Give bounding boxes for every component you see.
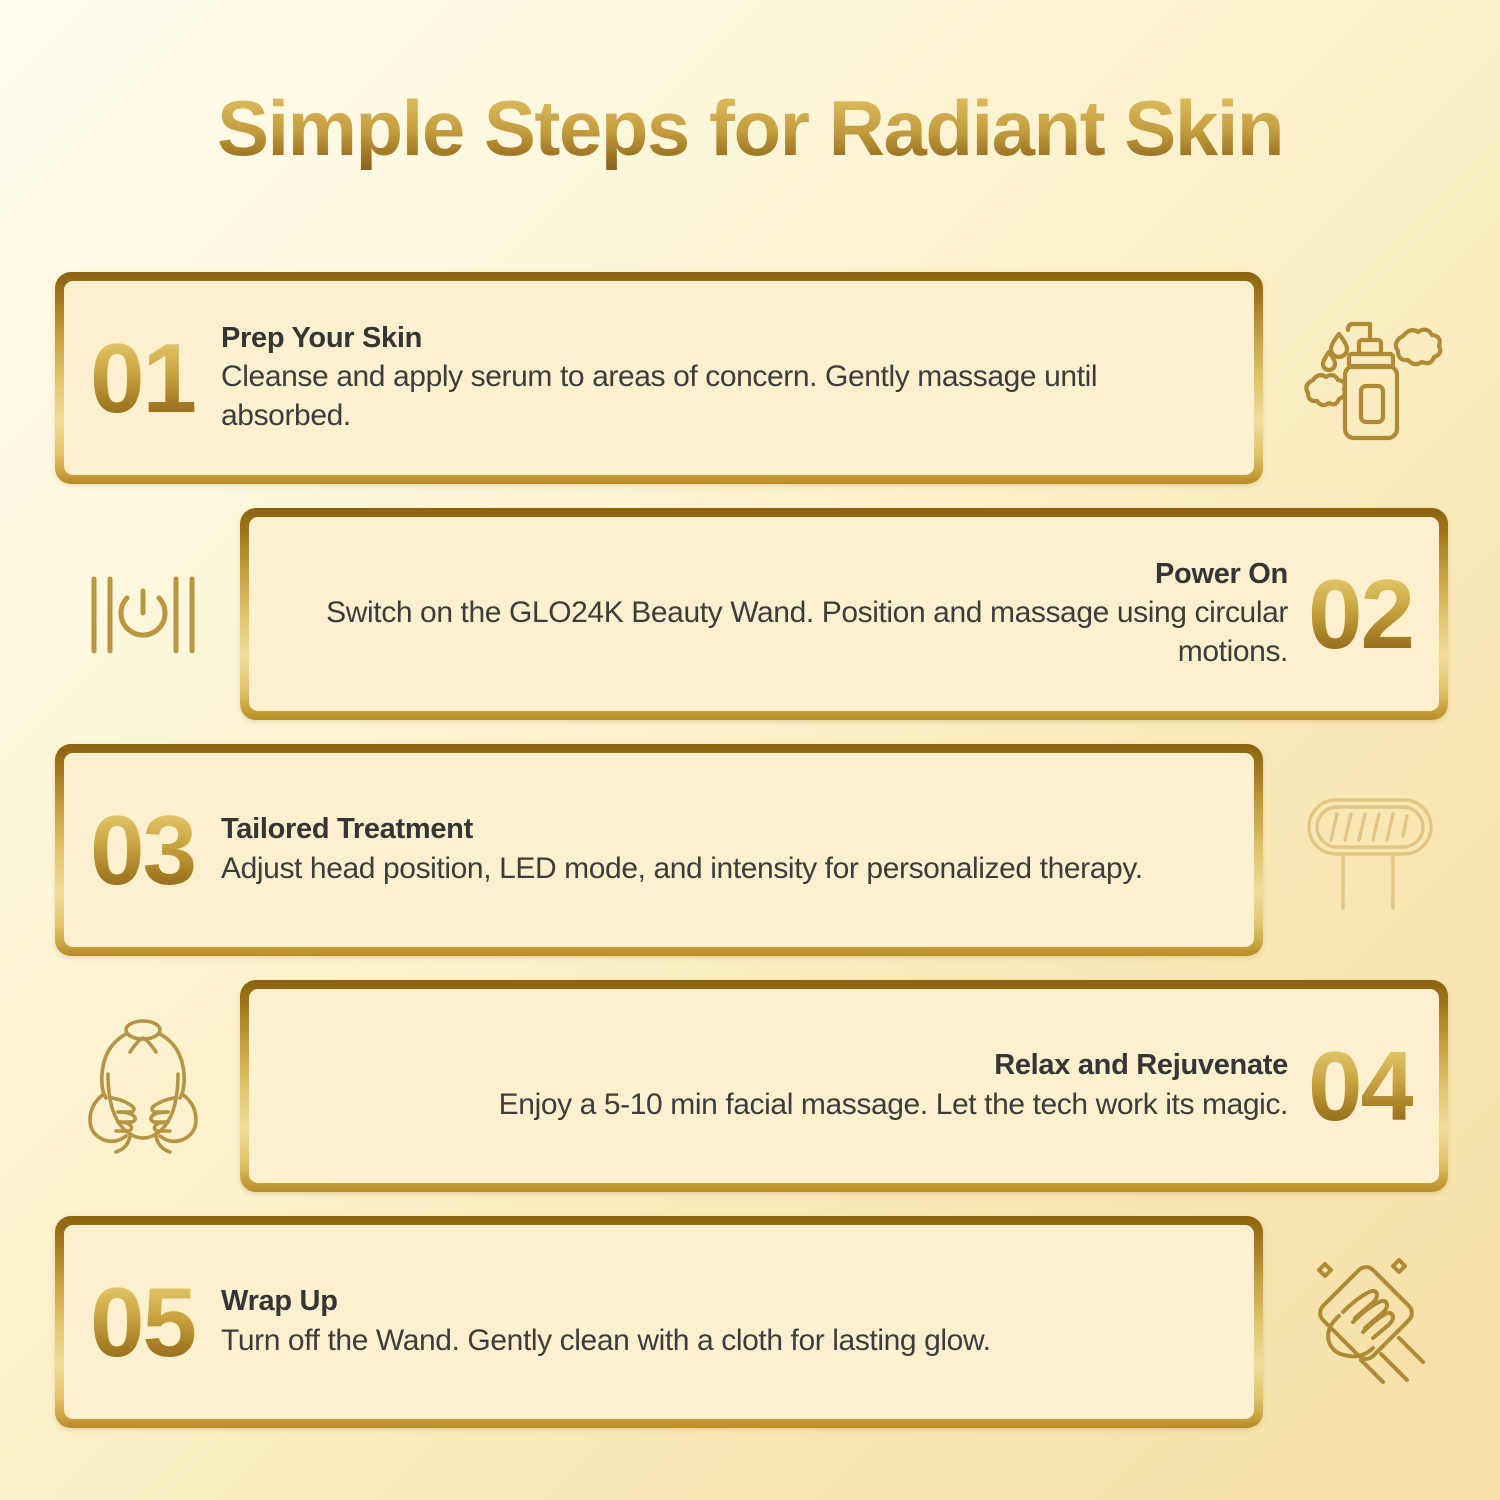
- step-row-05: 05 Wrap Up Turn off the Wand. Gently cle…: [0, 1216, 1500, 1434]
- facial-massage-icon: [58, 1008, 228, 1166]
- page-title-container: Simple Steps for Radiant Skin: [0, 88, 1500, 170]
- led-panel-icon: [1285, 772, 1455, 930]
- step-row-03: 03 Tailored Treatment Adjust head positi…: [0, 744, 1500, 962]
- step-title-01: Prep Your Skin: [221, 321, 1228, 355]
- pump-bottle-icon: [1285, 300, 1455, 458]
- step-card-05[interactable]: 05 Wrap Up Turn off the Wand. Gently cle…: [55, 1216, 1263, 1428]
- step-row-04: Relax and Rejuvenate Enjoy a 5-10 min fa…: [0, 980, 1500, 1198]
- cleaning-cloth-icon: [1285, 1244, 1455, 1402]
- step-description-02: Switch on the GLO24K Beauty Wand. Positi…: [275, 593, 1288, 671]
- step-card-04[interactable]: Relax and Rejuvenate Enjoy a 5-10 min fa…: [240, 980, 1448, 1192]
- power-button-icon: [58, 536, 228, 694]
- step-description-03: Adjust head position, LED mode, and inte…: [221, 849, 1228, 888]
- page-title: Simple Steps for Radiant Skin: [217, 88, 1283, 170]
- step-row-02: Power On Switch on the GLO24K Beauty Wan…: [0, 508, 1500, 726]
- step-number-05: 05: [90, 1273, 195, 1371]
- step-description-05: Turn off the Wand. Gently clean with a c…: [221, 1321, 1228, 1360]
- step-number-04: 04: [1308, 1037, 1413, 1135]
- step-number-01: 01: [90, 329, 195, 427]
- step-row-01: 01 Prep Your Skin Cleanse and apply seru…: [0, 272, 1500, 490]
- step-card-01[interactable]: 01 Prep Your Skin Cleanse and apply seru…: [55, 272, 1263, 484]
- step-card-03[interactable]: 03 Tailored Treatment Adjust head positi…: [55, 744, 1263, 956]
- steps-list: 01 Prep Your Skin Cleanse and apply seru…: [0, 272, 1500, 1452]
- step-title-05: Wrap Up: [221, 1284, 1228, 1318]
- step-card-02[interactable]: Power On Switch on the GLO24K Beauty Wan…: [240, 508, 1448, 720]
- step-title-02: Power On: [275, 557, 1288, 591]
- step-description-01: Cleanse and apply serum to areas of conc…: [221, 357, 1228, 435]
- step-description-04: Enjoy a 5-10 min facial massage. Let the…: [275, 1085, 1288, 1124]
- step-number-03: 03: [90, 801, 195, 899]
- step-title-03: Tailored Treatment: [221, 812, 1228, 846]
- step-title-04: Relax and Rejuvenate: [275, 1048, 1288, 1082]
- step-number-02: 02: [1308, 565, 1413, 663]
